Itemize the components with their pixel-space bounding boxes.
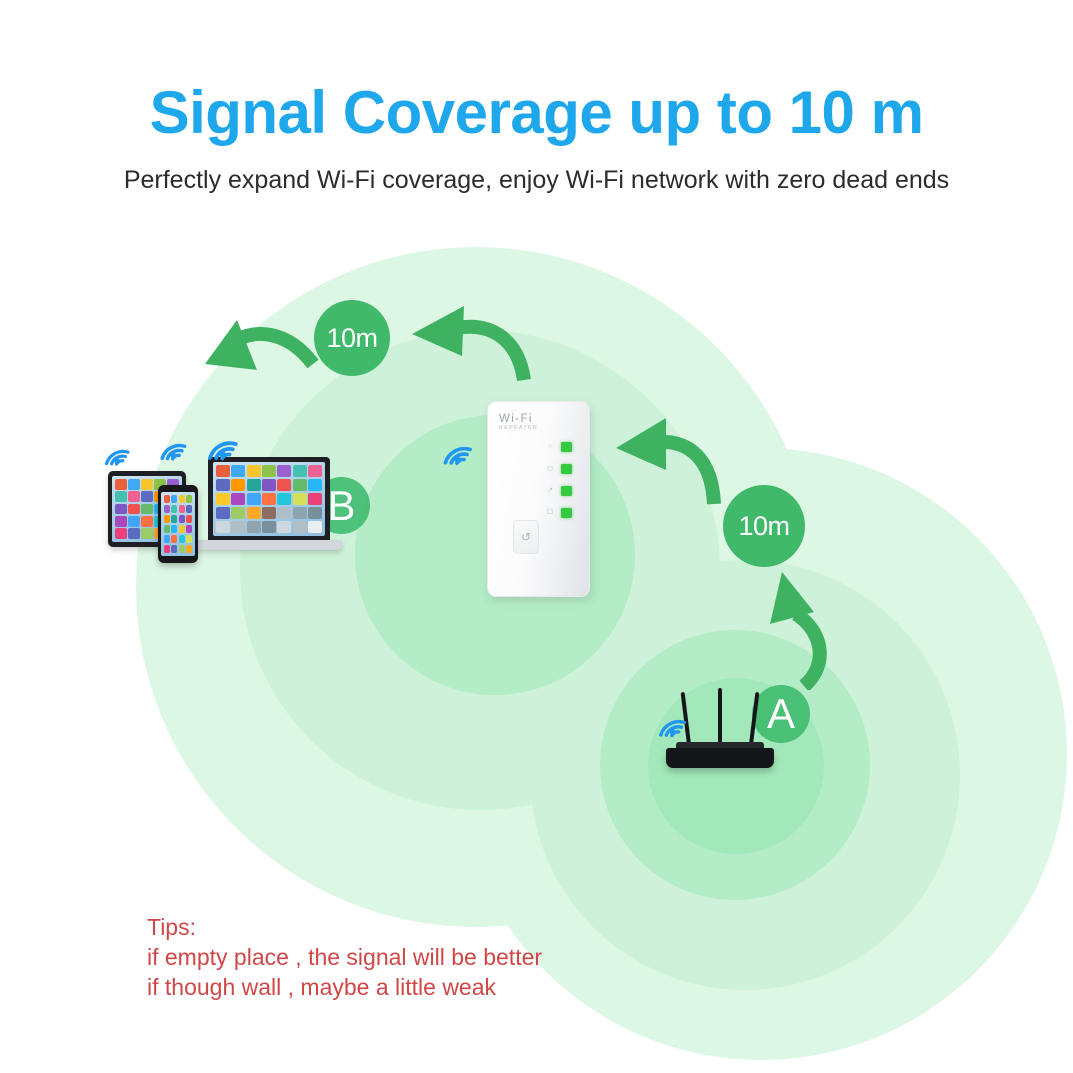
router-antenna (749, 692, 760, 748)
page-title: Signal Coverage up to 10 m (0, 78, 1073, 147)
distance-badge-right: 10m (723, 485, 805, 567)
wifi-signal-icon-device-1 (95, 432, 133, 468)
arrow-badge-to-devices (185, 292, 325, 417)
arrow-repeater-to-badge-left (398, 300, 533, 390)
led-lamp (561, 442, 572, 452)
distance-badge-left: 10m (314, 300, 390, 376)
coverage-ring-router-mid (530, 560, 960, 990)
page-subtitle: Perfectly expand Wi-Fi coverage, enjoy W… (0, 166, 1073, 195)
wireless-icon: ↗ (546, 487, 554, 495)
led-lamp (561, 486, 572, 496)
router-chassis (666, 748, 774, 768)
product-infographic: Signal Coverage up to 10 m Perfectly exp… (0, 0, 1073, 1073)
tips-heading: Tips: (147, 912, 542, 942)
led-indicator-wps: ◻ (546, 464, 572, 474)
tips-block: Tips: if empty place , the signal will b… (147, 912, 542, 1002)
distance-badge-right-label: 10m (738, 511, 789, 542)
arrow-router-to-badge-right (752, 570, 842, 690)
repeater-brand-line1: Wi-Fi (499, 414, 565, 425)
lan-icon: ☐ (546, 509, 554, 517)
led-lamp (561, 464, 572, 474)
tips-line-2: if though wall , maybe a little weak (147, 972, 542, 1002)
router-antenna (718, 688, 722, 748)
wifi-signal-icon-router (648, 700, 690, 740)
smartphone-screen (161, 492, 195, 556)
tips-line-1: if empty place , the signal will be bett… (147, 942, 542, 972)
laptop-device (208, 457, 330, 540)
distance-badge-left-label: 10m (326, 323, 377, 354)
led-lamp (561, 508, 572, 518)
laptop-keyboard-base (196, 540, 342, 550)
led-indicator-power: ○ (546, 442, 572, 452)
client-devices-group (100, 455, 340, 565)
wifi-repeater-device: Wi-Fi REPEATER ○ ◻ ↗ ☐ ↺ (487, 401, 590, 597)
power-icon: ○ (546, 443, 554, 451)
laptop-screen (213, 462, 325, 536)
wifi-signal-icon-device-3 (196, 420, 242, 463)
smartphone-device (158, 485, 198, 563)
led-indicator-lan: ☐ (546, 508, 572, 518)
wifi-signal-icon-repeater (432, 427, 476, 467)
arrow-router-to-repeater (600, 408, 725, 513)
repeater-brand-line2: REPEATER (499, 425, 565, 432)
led-indicator-wireless: ↗ (546, 486, 572, 496)
repeater-brand: Wi-Fi REPEATER (499, 414, 565, 432)
wifi-signal-icon-device-2 (150, 425, 190, 463)
wps-icon: ◻ (546, 465, 554, 473)
wps-button-glyph: ↺ (521, 530, 531, 544)
wps-button[interactable]: ↺ (513, 520, 539, 554)
